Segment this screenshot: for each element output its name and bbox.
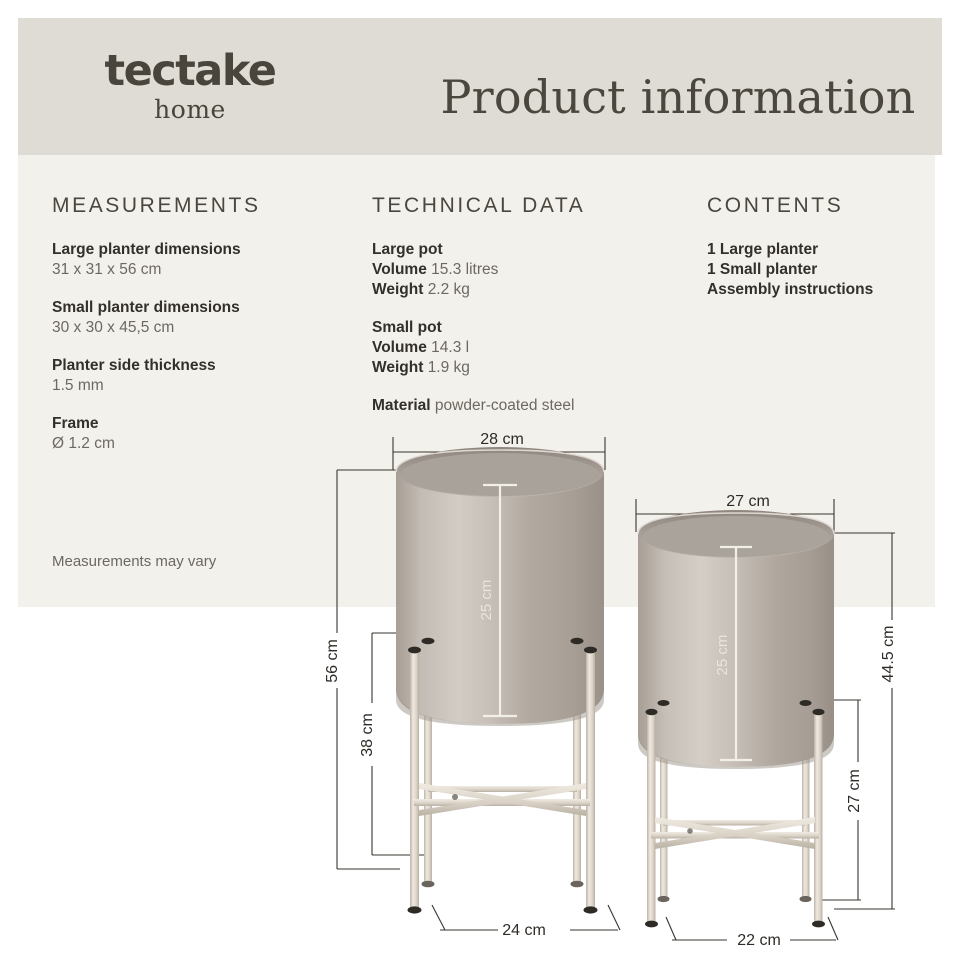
technical-row-label: Volume bbox=[372, 339, 427, 356]
technical-row-label: Volume bbox=[372, 261, 427, 278]
technical-group-title: Small pot bbox=[372, 319, 442, 336]
technical-group: Large pot Volume 15.3 litres Weight 2.2 … bbox=[372, 240, 672, 300]
material-label: Material bbox=[372, 397, 431, 414]
brand-logo: tectake home bbox=[70, 50, 310, 122]
technical-data-column: TECHNICAL DATA Large pot Volume 15.3 lit… bbox=[372, 194, 672, 434]
technical-row-value: 2.2 kg bbox=[428, 281, 470, 298]
technical-data-heading: TECHNICAL DATA bbox=[372, 194, 672, 218]
contents-item: 1 Small planter bbox=[707, 261, 817, 278]
measurements-heading: MEASUREMENTS bbox=[52, 194, 352, 218]
measurement-block: Large planter dimensions 31 x 31 x 56 cm bbox=[52, 240, 352, 280]
small-base-width-label: 22 cm bbox=[737, 932, 781, 949]
technical-group: Small pot Volume 14.3 l Weight 1.9 kg bbox=[372, 318, 672, 378]
measurements-column: MEASUREMENTS Large planter dimensions 31… bbox=[52, 194, 352, 472]
large-total-height-label: 56 cm bbox=[324, 639, 341, 683]
contents-item: 1 Large planter bbox=[707, 241, 818, 258]
large-base-width-label: 24 cm bbox=[502, 922, 546, 939]
measurements-disclaimer: Measurements may vary bbox=[52, 553, 216, 570]
technical-row-value: 14.3 l bbox=[431, 339, 469, 356]
measurement-block: Frame Ø 1.2 cm bbox=[52, 414, 352, 454]
measurement-block: Planter side thickness 1.5 mm bbox=[52, 356, 352, 396]
measurement-label: Small planter dimensions bbox=[52, 299, 240, 316]
technical-row-label: Weight bbox=[372, 281, 423, 298]
measurement-block: Small planter dimensions 30 x 30 x 45,5 … bbox=[52, 298, 352, 338]
large-leg-height-label: 38 cm bbox=[359, 713, 376, 757]
small-pot-height-label: 25 cm bbox=[714, 635, 731, 676]
material-value: powder-coated steel bbox=[435, 397, 575, 414]
measurement-label: Planter side thickness bbox=[52, 357, 216, 374]
contents-column: CONTENTS 1 Large planter 1 Small planter… bbox=[707, 194, 947, 318]
product-information-sheet: tectake home Product information MEASURE… bbox=[0, 0, 960, 960]
material-row: Material powder-coated steel bbox=[372, 396, 672, 416]
contents-item: Assembly instructions bbox=[707, 281, 873, 298]
measurement-label: Large planter dimensions bbox=[52, 241, 241, 258]
small-leg-height-label: 27 cm bbox=[846, 769, 863, 813]
technical-group-title: Large pot bbox=[372, 241, 443, 258]
brand-name: tectake bbox=[70, 50, 310, 93]
technical-row-label: Weight bbox=[372, 359, 423, 376]
technical-row-value: 1.9 kg bbox=[428, 359, 470, 376]
measurement-value: 1.5 mm bbox=[52, 377, 104, 394]
contents-heading: CONTENTS bbox=[707, 194, 947, 218]
technical-row-value: 15.3 litres bbox=[431, 261, 498, 278]
contents-list: 1 Large planter 1 Small planter Assembly… bbox=[707, 240, 947, 300]
measurement-value: 30 x 30 x 45,5 cm bbox=[52, 319, 174, 336]
header-band: tectake home Product information bbox=[18, 18, 942, 155]
measurement-value: 31 x 31 x 56 cm bbox=[52, 261, 161, 278]
page-title: Product information bbox=[418, 70, 938, 124]
measurement-value: Ø 1.2 cm bbox=[52, 435, 115, 452]
small-total-height-label: 44.5 cm bbox=[880, 626, 897, 683]
brand-sub: home bbox=[70, 97, 310, 122]
measurement-label: Frame bbox=[52, 415, 99, 432]
